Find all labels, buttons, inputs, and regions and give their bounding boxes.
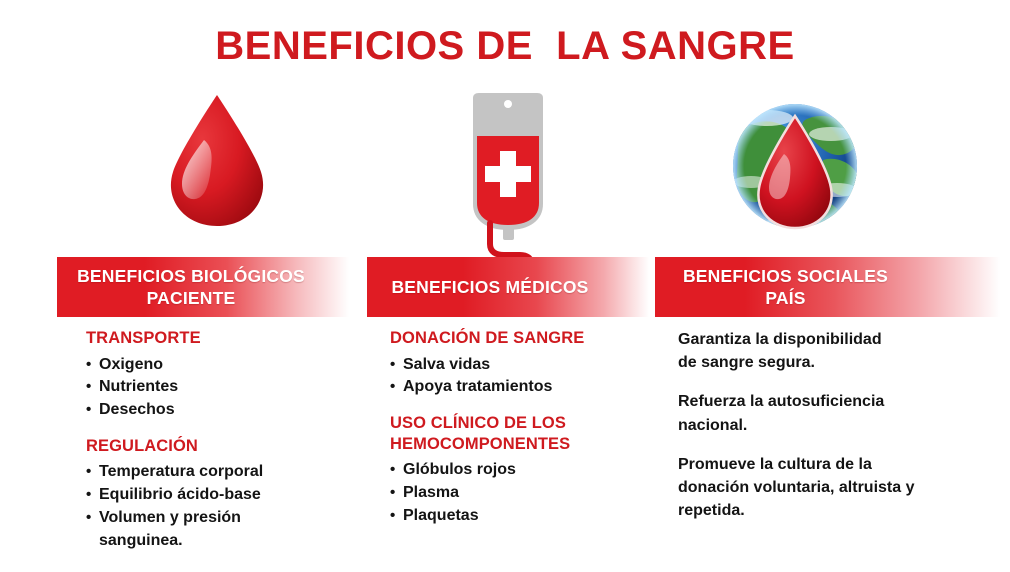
list-item: Salva vidas [390,354,660,377]
column-body-sociales: Garantiza la disponibilidad de sangre se… [678,328,978,522]
list-item: Equilibrio ácido-base [86,484,362,507]
list-item: Plaquetas [390,505,660,528]
content-group: TRANSPORTE Oxigeno Nutrientes Desechos [86,328,362,422]
column-header-sociales: BENEFICIOS SOCIALES PAÍS [655,257,1000,317]
list-item: Volumen y presión sanguinea. [86,507,362,552]
column-header-medicos: BENEFICIOS MÉDICOS [367,257,649,317]
bullet-list: Salva vidas Apoya tratamientos [390,354,660,399]
group-subhead: DONACIÓN DE SANGRE [390,328,660,349]
list-item: Temperatura corporal [86,461,362,484]
content-group: REGULACIÓN Temperatura corporal Equilibr… [86,436,362,553]
globe-blood-drop-icon [727,98,863,234]
icon-row [0,0,1010,250]
list-item: Nutrientes [86,376,362,399]
list-item: Oxigeno [86,354,362,377]
blood-bag-icon [442,92,574,267]
list-item: Desechos [86,399,362,422]
blood-drop-icon [158,92,276,232]
list-item: Plasma [390,482,660,505]
list-item: Glóbulos rojos [390,459,660,482]
list-item: Apoya tratamientos [390,376,660,399]
paragraph: Promueve la cultura de la donación volun… [678,453,978,523]
bullet-list: Temperatura corporal Equilibrio ácido-ba… [86,461,362,552]
column-header-label: BENEFICIOS MÉDICOS [391,276,588,298]
paragraph: Garantiza la disponibilidad de sangre se… [678,328,978,374]
group-subhead: TRANSPORTE [86,328,362,349]
column-header-label: BENEFICIOS SOCIALES PAÍS [683,265,888,310]
column-header-biologicos: BENEFICIOS BIOLÓGICOS PACIENTE [57,257,349,317]
group-subhead: REGULACIÓN [86,436,362,457]
column-header-label: BENEFICIOS BIOLÓGICOS PACIENTE [77,265,305,310]
content-group: DONACIÓN DE SANGRE Salva vidas Apoya tra… [390,328,660,399]
group-subhead: USO CLÍNICO DE LOS HEMOCOMPONENTES [390,413,660,454]
column-body-medicos: DONACIÓN DE SANGRE Salva vidas Apoya tra… [390,328,660,527]
column-body-biologicos: TRANSPORTE Oxigeno Nutrientes Desechos R… [86,328,362,552]
content-group: USO CLÍNICO DE LOS HEMOCOMPONENTES Glóbu… [390,413,660,527]
bullet-list: Oxigeno Nutrientes Desechos [86,354,362,422]
bullet-list: Glóbulos rojos Plasma Plaquetas [390,459,660,527]
paragraph: Refuerza la autosuficiencia nacional. [678,390,978,436]
